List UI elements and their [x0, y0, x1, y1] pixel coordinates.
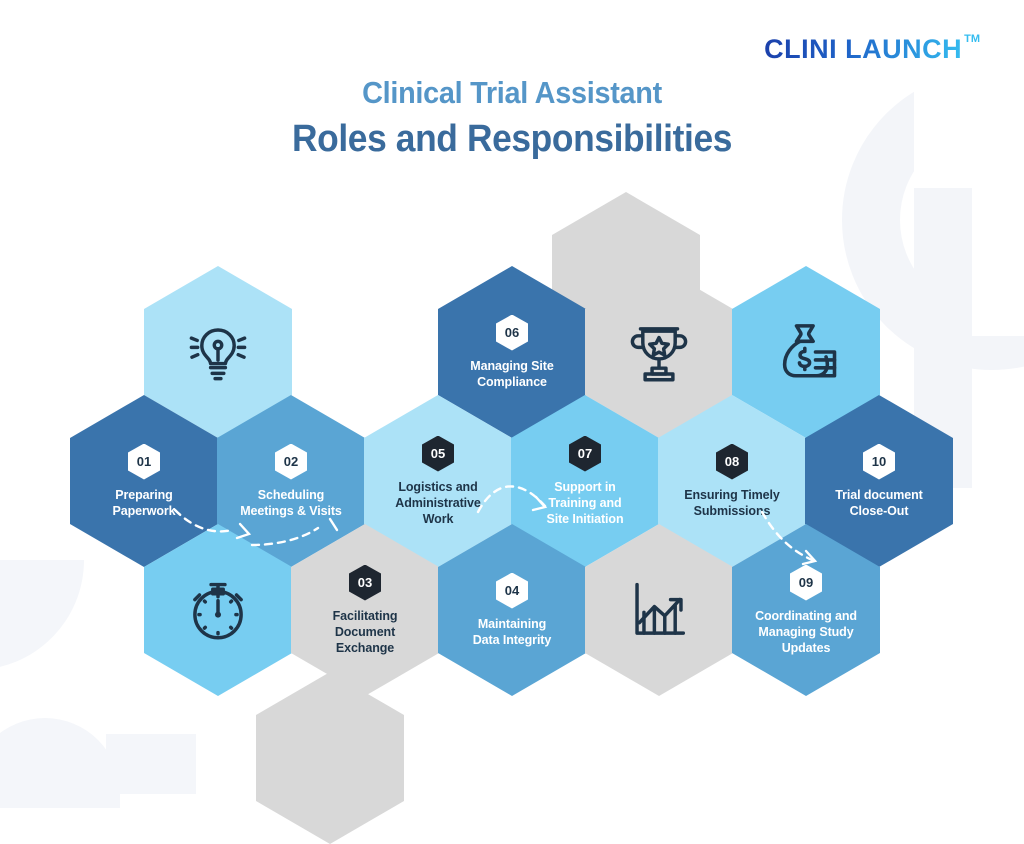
- lightbulb-icon: [181, 315, 255, 389]
- hex-number-badge-07: 07: [569, 436, 601, 472]
- hex-number-badge-04: 04: [496, 573, 528, 609]
- honeycomb-diagram: 06 Managing Site Compliance: [0, 0, 1024, 768]
- hex-label-08: Ensuring Timely Submissions: [674, 487, 790, 519]
- hex-label-03: Facilitating Document Exchange: [323, 608, 408, 656]
- money-bag-icon: [768, 314, 844, 390]
- hex-number-badge-01: 01: [128, 444, 160, 480]
- hex-number-badge-03: 03: [349, 565, 381, 601]
- empty-hex-bottom: [256, 672, 404, 844]
- trophy-icon: [622, 315, 696, 389]
- hex-label-02: Scheduling Meetings & Visits: [230, 487, 352, 519]
- hex-label-07: Support in Training and Site Initiation: [537, 479, 634, 527]
- hex-label-06: Managing Site Compliance: [460, 358, 563, 390]
- hex-label-01: Preparing Paperwork: [102, 487, 185, 519]
- hex-number-badge-08: 08: [716, 444, 748, 480]
- hex-number-badge-06: 06: [496, 315, 528, 351]
- hex-label-04: Maintaining Data Integrity: [463, 616, 561, 648]
- hex-number-badge-09: 09: [790, 565, 822, 601]
- stopwatch-icon: [181, 573, 255, 647]
- hex-label-09: Coordinating and Managing Study Updates: [745, 608, 867, 656]
- growth-chart-icon: [622, 573, 696, 647]
- hex-number-badge-05: 05: [422, 436, 454, 472]
- hex-label-10: Trial document Close-Out: [825, 487, 933, 519]
- hex-number-badge-02: 02: [275, 444, 307, 480]
- hex-number-badge-10: 10: [863, 444, 895, 480]
- hex-label-05: Logistics and Administrative Work: [385, 479, 490, 527]
